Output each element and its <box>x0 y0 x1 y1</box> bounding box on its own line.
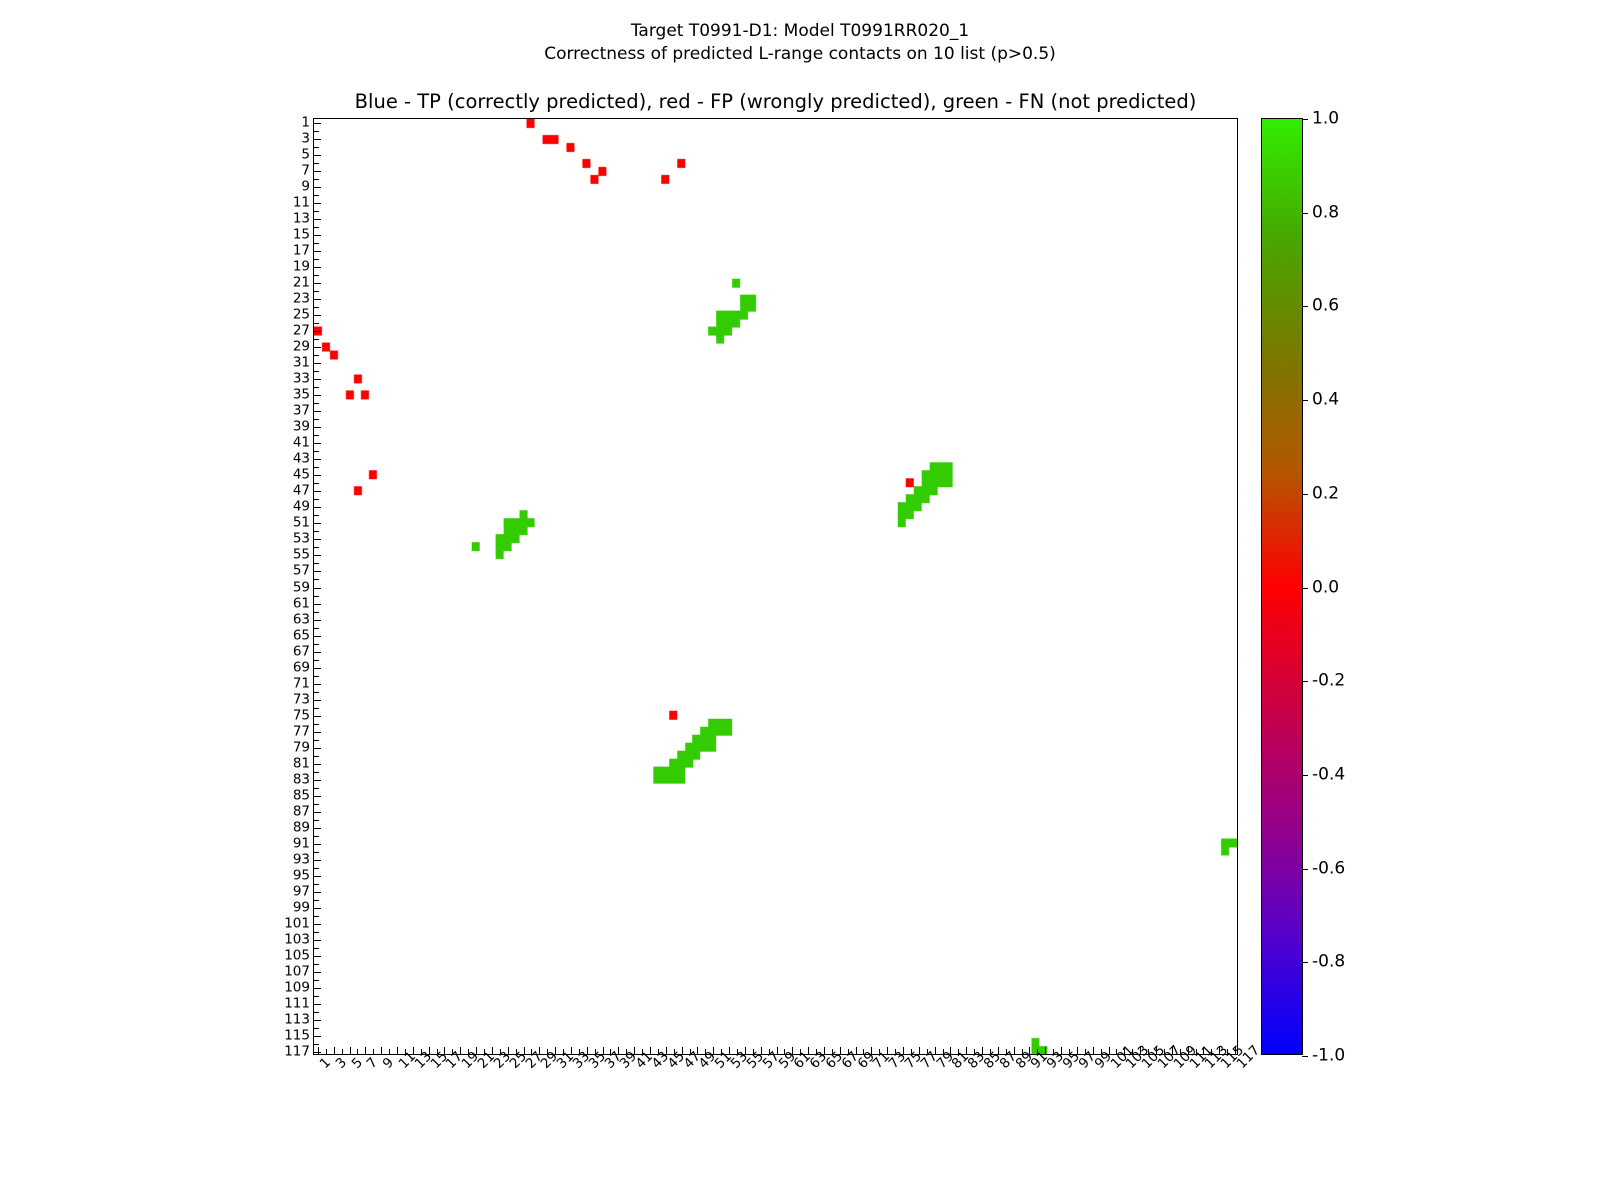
y-tick <box>314 315 321 316</box>
y-tick <box>314 972 321 973</box>
y-tick <box>314 387 319 388</box>
y-tick <box>314 916 319 917</box>
y-tick <box>314 884 319 885</box>
y-tick-label: 53 <box>293 533 310 547</box>
x-tick-label: 61 <box>792 1062 802 1072</box>
x-tick <box>958 1049 959 1054</box>
legend-description: Blue - TP (correctly predicted), red - F… <box>313 90 1238 113</box>
x-tick-label: 35 <box>587 1062 597 1072</box>
x-tick <box>903 1047 904 1054</box>
y-tick-label: 111 <box>284 997 310 1011</box>
y-tick <box>314 764 321 765</box>
y-tick <box>314 820 319 821</box>
x-tick <box>1148 1049 1149 1054</box>
y-tick-label: 109 <box>284 981 310 995</box>
y-tick <box>314 1044 319 1045</box>
y-tick <box>314 283 321 284</box>
x-tick <box>1156 1047 1157 1054</box>
x-tick-label: 19 <box>460 1062 470 1072</box>
y-tick-label: 101 <box>284 917 310 931</box>
x-tick-label: 3 <box>334 1062 344 1072</box>
y-tick <box>314 852 319 853</box>
y-tick <box>314 179 319 180</box>
x-tick <box>626 1049 627 1054</box>
y-tick <box>314 1020 321 1021</box>
y-tick <box>314 924 321 925</box>
x-tick <box>674 1049 675 1054</box>
x-tick <box>1069 1049 1070 1054</box>
y-tick-label: 35 <box>293 389 310 403</box>
x-tick <box>1022 1049 1023 1054</box>
x-tick <box>603 1047 604 1054</box>
x-tick <box>508 1047 509 1054</box>
x-tick-label: 95 <box>1061 1062 1071 1072</box>
x-tick <box>982 1047 983 1054</box>
y-tick <box>314 243 319 244</box>
y-tick <box>314 660 319 661</box>
y-tick <box>314 147 319 148</box>
y-tick <box>314 668 321 669</box>
y-tick-label: 81 <box>293 757 310 771</box>
x-tick <box>666 1047 667 1054</box>
x-tick <box>1188 1047 1189 1054</box>
y-tick-label: 73 <box>293 693 310 707</box>
y-tick-label: 55 <box>293 549 310 563</box>
x-tick <box>397 1047 398 1054</box>
x-tick <box>1061 1047 1062 1054</box>
x-tick-label: 65 <box>824 1062 834 1072</box>
x-tick <box>587 1047 588 1054</box>
y-tick <box>314 860 321 861</box>
y-tick <box>314 515 319 516</box>
x-tick <box>911 1049 912 1054</box>
y-tick <box>314 355 319 356</box>
x-tick <box>1101 1049 1102 1054</box>
x-tick <box>1219 1047 1220 1054</box>
y-tick <box>314 459 321 460</box>
y-tick <box>314 804 319 805</box>
x-tick-label: 107 <box>1156 1062 1166 1072</box>
y-tick <box>314 892 321 893</box>
y-tick <box>314 347 321 348</box>
y-tick <box>314 187 321 188</box>
y-tick-label: 39 <box>293 421 310 435</box>
x-tick <box>650 1047 651 1054</box>
colorbar-tick <box>1302 962 1308 963</box>
x-tick-label: 17 <box>444 1062 454 1072</box>
colorbar-tick <box>1302 119 1308 120</box>
y-tick-label: 15 <box>293 228 310 242</box>
x-tick <box>832 1049 833 1054</box>
y-tick <box>314 275 319 276</box>
y-tick-label: 43 <box>293 453 310 467</box>
x-tick <box>516 1049 517 1054</box>
x-tick <box>563 1049 564 1054</box>
y-tick <box>314 676 319 677</box>
x-tick <box>713 1047 714 1054</box>
x-tick <box>729 1047 730 1054</box>
y-tick-label: 69 <box>293 661 310 675</box>
colorbar-tick-label: -0.8 <box>1312 954 1345 971</box>
y-tick-label: 99 <box>293 901 310 915</box>
x-tick-label: 89 <box>1014 1062 1024 1072</box>
y-tick <box>314 908 321 909</box>
x-tick <box>848 1049 849 1054</box>
x-tick <box>990 1049 991 1054</box>
y-tick <box>314 467 319 468</box>
colorbar-tick-label: -0.6 <box>1312 860 1345 877</box>
y-tick-label: 21 <box>293 276 310 290</box>
y-tick <box>314 740 319 741</box>
y-tick <box>314 395 321 396</box>
x-tick <box>539 1047 540 1054</box>
y-tick-label: 41 <box>293 437 310 451</box>
colorbar-tick <box>1302 400 1308 401</box>
y-tick <box>314 371 319 372</box>
x-tick-label: 99 <box>1093 1062 1103 1072</box>
x-tick <box>484 1049 485 1054</box>
x-tick-label: 71 <box>871 1062 881 1072</box>
y-tick <box>314 235 321 236</box>
x-tick-label: 33 <box>571 1062 581 1072</box>
x-tick <box>784 1049 785 1054</box>
colorbar-tick-label: -0.2 <box>1312 673 1345 690</box>
x-tick-label: 15 <box>429 1062 439 1072</box>
x-tick <box>1227 1049 1228 1054</box>
y-tick <box>314 588 321 589</box>
colorbar-tick-label: 0.8 <box>1312 204 1339 221</box>
y-tick <box>314 203 321 204</box>
y-tick <box>314 155 321 156</box>
x-tick <box>1180 1049 1181 1054</box>
x-tick <box>547 1049 548 1054</box>
colorbar-tick <box>1302 1056 1308 1057</box>
x-tick-label: 23 <box>492 1062 502 1072</box>
y-tick-label: 93 <box>293 853 310 867</box>
x-tick <box>444 1047 445 1054</box>
x-tick-label: 115 <box>1219 1062 1229 1072</box>
x-tick <box>1132 1049 1133 1054</box>
x-tick-label: 51 <box>713 1062 723 1072</box>
x-tick <box>705 1049 706 1054</box>
y-tick <box>314 652 321 653</box>
x-tick <box>1140 1047 1141 1054</box>
y-tick <box>314 628 319 629</box>
x-tick <box>998 1047 999 1054</box>
x-tick <box>492 1047 493 1054</box>
x-tick <box>610 1049 611 1054</box>
figure-title-line-1: Target T0991-D1: Model T0991RR020_1 <box>0 20 1600 43</box>
x-tick-label: 83 <box>966 1062 976 1072</box>
x-tick <box>1006 1049 1007 1054</box>
x-tick <box>777 1047 778 1054</box>
y-tick-label: 83 <box>293 773 310 787</box>
x-tick <box>618 1047 619 1054</box>
x-tick-label: 103 <box>1124 1062 1134 1072</box>
colorbar-tick <box>1302 306 1308 307</box>
y-tick <box>314 988 321 989</box>
y-tick <box>314 844 321 845</box>
x-tick <box>350 1047 351 1054</box>
x-tick <box>800 1049 801 1054</box>
x-tick <box>468 1049 469 1054</box>
y-tick-label: 29 <box>293 340 310 354</box>
y-tick <box>314 531 319 532</box>
x-tick <box>808 1047 809 1054</box>
x-tick-label: 75 <box>903 1062 913 1072</box>
y-tick <box>314 596 319 597</box>
y-tick <box>314 900 319 901</box>
y-tick-label: 97 <box>293 885 310 899</box>
y-tick <box>314 724 319 725</box>
y-tick <box>314 291 319 292</box>
x-tick <box>531 1049 532 1054</box>
y-tick-label: 17 <box>293 244 310 258</box>
y-tick-label: 51 <box>293 517 310 531</box>
x-tick <box>1164 1049 1165 1054</box>
colorbar-tick <box>1302 775 1308 776</box>
y-tick-label: 59 <box>293 581 310 595</box>
y-tick-label: 47 <box>293 485 310 499</box>
x-tick-label: 91 <box>1029 1062 1039 1072</box>
colorbar-tick <box>1302 213 1308 214</box>
y-tick <box>314 379 321 380</box>
y-tick-label: 107 <box>284 965 310 979</box>
y-tick-label: 33 <box>293 373 310 387</box>
y-tick-label: 77 <box>293 725 310 739</box>
x-tick <box>1014 1047 1015 1054</box>
x-tick <box>642 1049 643 1054</box>
x-tick <box>476 1047 477 1054</box>
y-tick-label: 9 <box>301 180 310 194</box>
x-tick <box>1109 1047 1110 1054</box>
y-tick <box>314 1012 319 1013</box>
x-tick <box>871 1047 872 1054</box>
contact-map-plot-area[interactable]: 1357911131517192123252729313335373941434… <box>313 118 1238 1055</box>
y-tick-label: 85 <box>293 789 310 803</box>
y-tick <box>314 796 321 797</box>
y-tick <box>314 571 321 572</box>
x-tick-label: 101 <box>1109 1062 1119 1072</box>
y-tick <box>314 259 319 260</box>
x-tick <box>365 1047 366 1054</box>
y-tick <box>314 932 319 933</box>
x-tick-label: 79 <box>935 1062 945 1072</box>
y-tick <box>314 980 319 981</box>
x-tick-label: 59 <box>777 1062 787 1072</box>
x-tick <box>1172 1047 1173 1054</box>
colorbar-tick <box>1302 588 1308 589</box>
y-tick-label: 65 <box>293 629 310 643</box>
x-tick <box>1196 1049 1197 1054</box>
x-tick <box>769 1049 770 1054</box>
colorbar-tick <box>1302 869 1308 870</box>
x-tick <box>1029 1047 1030 1054</box>
x-tick-label: 31 <box>555 1062 565 1072</box>
y-tick <box>314 547 319 548</box>
y-tick <box>314 403 319 404</box>
x-tick <box>927 1049 928 1054</box>
y-tick <box>314 123 321 124</box>
y-tick-label: 75 <box>293 709 310 723</box>
y-tick-label: 3 <box>301 132 310 146</box>
y-tick <box>314 996 319 997</box>
x-tick <box>753 1049 754 1054</box>
x-tick <box>737 1049 738 1054</box>
x-tick <box>1037 1049 1038 1054</box>
y-tick-label: 11 <box>293 196 310 210</box>
x-tick <box>935 1047 936 1054</box>
y-tick <box>314 539 321 540</box>
x-tick <box>658 1049 659 1054</box>
x-tick-label: 53 <box>729 1062 739 1072</box>
colorbar-gradient <box>1262 119 1302 1054</box>
y-tick <box>314 708 319 709</box>
x-tick <box>887 1047 888 1054</box>
x-tick-label: 5 <box>350 1062 360 1072</box>
x-tick <box>389 1049 390 1054</box>
x-tick-label: 27 <box>524 1062 534 1072</box>
x-tick <box>1077 1047 1078 1054</box>
y-tick <box>314 163 319 164</box>
y-tick <box>314 419 319 420</box>
y-tick <box>314 483 319 484</box>
x-tick-label: 29 <box>539 1062 549 1072</box>
y-tick-label: 103 <box>284 933 310 947</box>
y-tick <box>314 756 319 757</box>
x-tick-label: 109 <box>1172 1062 1182 1072</box>
x-tick <box>413 1047 414 1054</box>
figure-title-line-2: Correctness of predicted L-range contact… <box>0 43 1600 66</box>
colorbar-tick-label: 1.0 <box>1312 111 1339 128</box>
y-tick-label: 23 <box>293 292 310 306</box>
y-tick <box>314 435 319 436</box>
y-tick <box>314 636 321 637</box>
y-tick <box>314 131 319 132</box>
y-tick <box>314 748 321 749</box>
x-tick <box>1093 1047 1094 1054</box>
x-tick-label: 93 <box>1045 1062 1055 1072</box>
colorbar[interactable]: 1.00.80.60.40.20.0-0.2-0.4-0.6-0.8-1.0 <box>1261 118 1303 1055</box>
y-tick <box>314 523 321 524</box>
x-tick-label: 117 <box>1235 1062 1245 1072</box>
x-tick <box>334 1047 335 1054</box>
x-tick-label: 39 <box>618 1062 628 1072</box>
x-tick-label: 11 <box>397 1062 407 1072</box>
y-tick-label: 49 <box>293 501 310 515</box>
y-tick-label: 25 <box>293 308 310 322</box>
x-tick-label: 85 <box>982 1062 992 1072</box>
y-tick <box>314 251 321 252</box>
y-tick <box>314 267 321 268</box>
y-tick-label: 89 <box>293 821 310 835</box>
x-tick <box>895 1049 896 1054</box>
y-tick <box>314 507 321 508</box>
y-tick <box>314 299 321 300</box>
y-tick <box>314 451 319 452</box>
x-tick-label: 87 <box>998 1062 1008 1072</box>
y-tick <box>314 700 321 701</box>
y-tick-label: 113 <box>284 1013 310 1027</box>
y-tick-label: 1 <box>301 116 310 130</box>
y-tick <box>314 1004 321 1005</box>
y-tick-label: 87 <box>293 805 310 819</box>
y-tick <box>314 684 321 685</box>
y-tick <box>314 788 319 789</box>
y-tick <box>314 620 321 621</box>
y-tick <box>314 716 321 717</box>
colorbar-tick <box>1302 681 1308 682</box>
contact-map-canvas <box>314 119 1237 1054</box>
x-tick <box>840 1047 841 1054</box>
x-tick <box>761 1047 762 1054</box>
y-tick-label: 57 <box>293 565 310 579</box>
y-tick <box>314 411 321 412</box>
x-tick <box>381 1047 382 1054</box>
y-tick <box>314 211 319 212</box>
y-tick <box>314 579 319 580</box>
y-tick-label: 19 <box>293 260 310 274</box>
y-tick-label: 105 <box>284 949 310 963</box>
x-tick-label: 9 <box>381 1062 391 1072</box>
y-tick <box>314 692 319 693</box>
y-tick <box>314 555 321 556</box>
x-tick-label: 25 <box>508 1062 518 1072</box>
x-tick <box>824 1047 825 1054</box>
x-tick <box>1116 1049 1117 1054</box>
y-tick <box>314 443 321 444</box>
x-tick <box>357 1049 358 1054</box>
y-tick <box>314 219 321 220</box>
x-tick <box>943 1049 944 1054</box>
x-tick-label: 81 <box>950 1062 960 1072</box>
x-tick-label: 69 <box>856 1062 866 1072</box>
y-tick-label: 27 <box>293 324 310 338</box>
x-tick <box>721 1049 722 1054</box>
y-tick-label: 31 <box>293 357 310 371</box>
x-tick <box>579 1049 580 1054</box>
x-tick <box>500 1049 501 1054</box>
x-tick <box>452 1049 453 1054</box>
colorbar-tick-label: -0.4 <box>1312 766 1345 783</box>
x-tick <box>1085 1049 1086 1054</box>
y-tick-label: 79 <box>293 741 310 755</box>
y-tick <box>314 139 321 140</box>
colorbar-tick-label: -1.0 <box>1312 1048 1345 1065</box>
y-tick <box>314 307 319 308</box>
y-tick-label: 117 <box>284 1045 310 1059</box>
x-tick <box>1124 1047 1125 1054</box>
colorbar-tick-label: 0.4 <box>1312 392 1339 409</box>
y-tick <box>314 339 319 340</box>
x-tick <box>690 1049 691 1054</box>
x-tick <box>595 1049 596 1054</box>
x-tick-label: 49 <box>697 1062 707 1072</box>
y-tick-label: 63 <box>293 613 310 627</box>
x-tick-label: 113 <box>1203 1062 1213 1072</box>
x-tick <box>966 1047 967 1054</box>
x-tick <box>634 1047 635 1054</box>
x-tick <box>697 1047 698 1054</box>
y-tick <box>314 644 319 645</box>
y-tick <box>314 828 321 829</box>
y-tick-label: 45 <box>293 469 310 483</box>
x-tick <box>1203 1047 1204 1054</box>
y-tick <box>314 195 319 196</box>
y-tick <box>314 772 319 773</box>
y-tick <box>314 563 319 564</box>
x-tick-label: 41 <box>634 1062 644 1072</box>
